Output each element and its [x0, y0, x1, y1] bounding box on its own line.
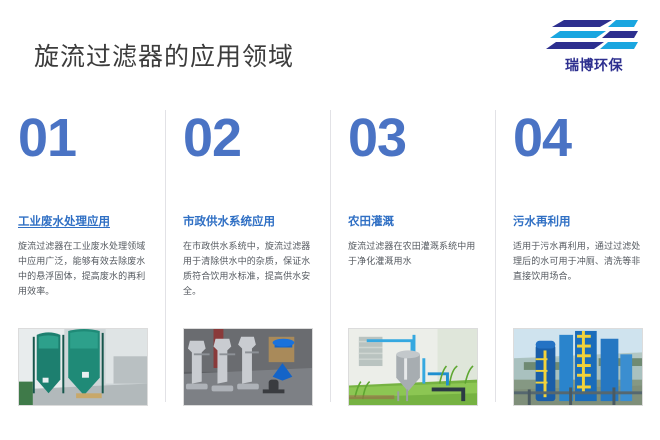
- column-title[interactable]: 工业废水处理应用: [18, 214, 151, 230]
- column-title[interactable]: 污水再利用: [513, 214, 646, 230]
- column-01: 01 工业废水处理应用 旋流过滤器在工业废水处理领域中应用广泛，能够有效去除废水…: [0, 104, 165, 414]
- logo-mark-icon: [546, 18, 642, 56]
- column-number: 02: [183, 108, 316, 168]
- column-description: 旋流过滤器在农田灌溉系统中用于净化灌溉用水: [348, 239, 481, 269]
- column-04: 04 污水再利用 适用于污水再利用，通过过滤处理后的水可用于冲厕、清洗等非直接饮…: [495, 104, 660, 414]
- column-description: 适用于污水再利用，通过过滤处理后的水可用于冲厕、清洗等非直接饮用场合。: [513, 239, 646, 284]
- blue-treatment-towers-photo: [513, 328, 643, 406]
- grey-valves-hydrants-photo: [183, 328, 313, 406]
- column-description: 旋流过滤器在工业废水处理领域中应用广泛，能够有效去除废水中的悬浮固体，提高废水的…: [18, 239, 151, 299]
- company-logo: 瑞博环保: [546, 18, 642, 78]
- column-title[interactable]: 市政供水系统应用: [183, 214, 316, 230]
- green-industrial-tanks-photo: [18, 328, 148, 406]
- column-02: 02 市政供水系统应用 在市政供水系统中，旋流过滤器用于清除供水中的杂质，保证水…: [165, 104, 330, 414]
- page-title: 旋流过滤器的应用领域: [34, 40, 294, 74]
- column-number: 04: [513, 108, 646, 168]
- column-number: 03: [348, 108, 481, 168]
- slide-header: 旋流过滤器的应用领域 瑞博环保: [0, 0, 660, 96]
- column-title[interactable]: 农田灌溉: [348, 214, 481, 230]
- irrigation-filter-garden-photo: [348, 328, 478, 406]
- column-03: 03 农田灌溉 旋流过滤器在农田灌溉系统中用于净化灌溉用水: [330, 104, 495, 414]
- slide-root: 旋流过滤器的应用领域 瑞博环保 01 工业废水处理应用 旋流过滤器在工业废水处理…: [0, 0, 660, 440]
- column-description: 在市政供水系统中，旋流过滤器用于清除供水中的杂质，保证水质符合饮用水标准，提高供…: [183, 239, 316, 299]
- logo-text: 瑞博环保: [546, 55, 642, 75]
- column-number: 01: [18, 108, 151, 168]
- application-columns: 01 工业废水处理应用 旋流过滤器在工业废水处理领域中应用广泛，能够有效去除废水…: [0, 104, 660, 414]
